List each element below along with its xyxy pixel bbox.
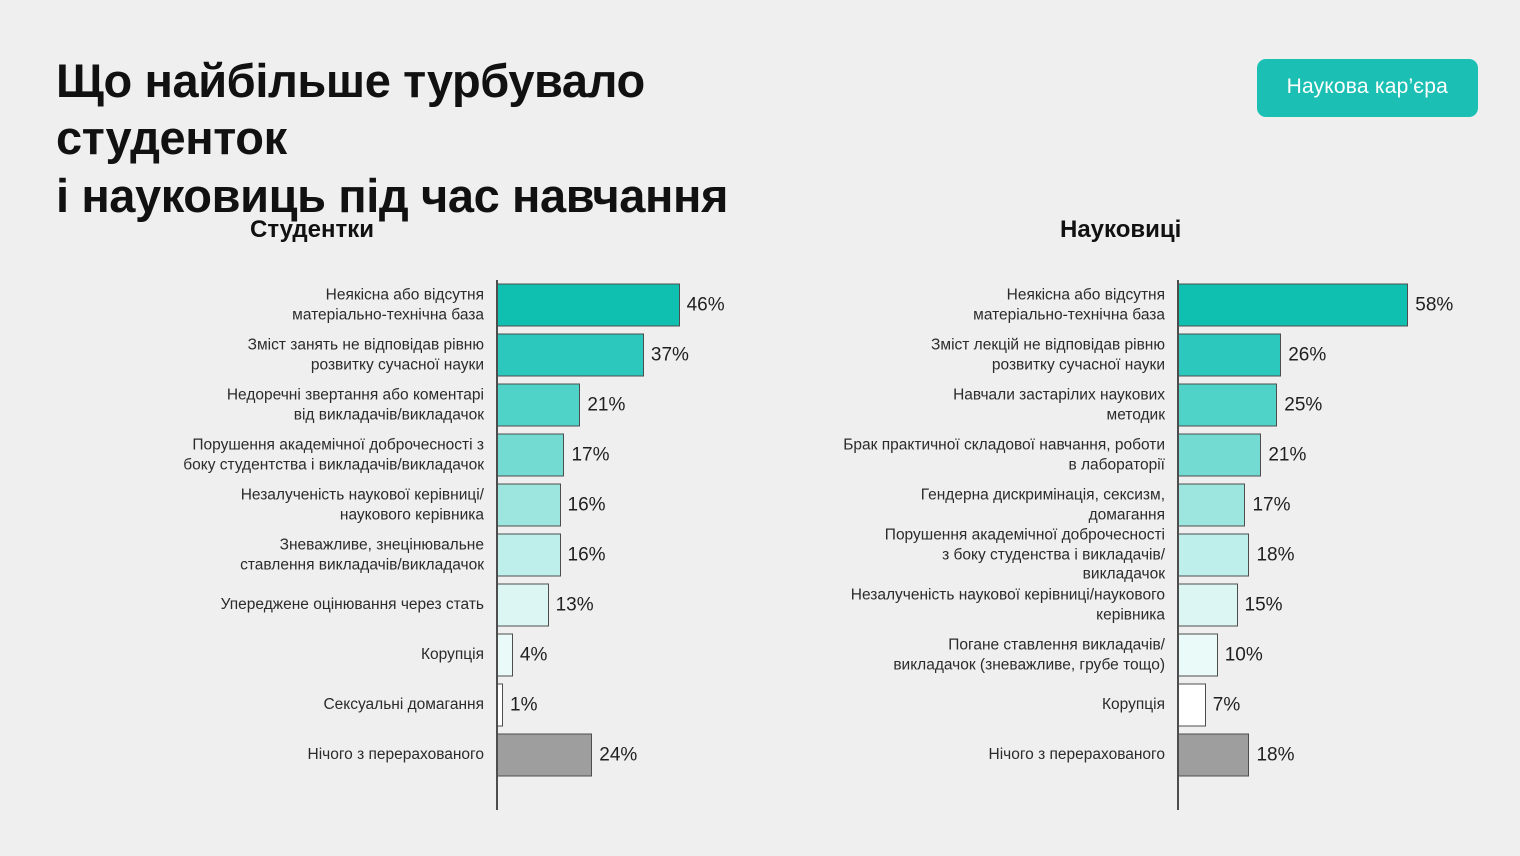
bar: [497, 284, 680, 327]
bar-group: 25%: [1178, 384, 1322, 427]
chart-title-scientists: Науковиці: [735, 216, 1495, 250]
chart-row: Погане ставлення викладачів/ викладачок …: [735, 630, 1495, 680]
bar-group: 26%: [1178, 334, 1326, 377]
bar-category-label: Зміст лекцій не відповідав рівню розвитк…: [735, 335, 1165, 374]
page-title: Що найбільше турбувало студенток і науко…: [56, 52, 956, 224]
bar: [1178, 484, 1245, 527]
bar-group: 17%: [497, 434, 610, 477]
chart-row: Нічого з перерахованого24%: [60, 730, 760, 780]
chart-row: Порушення академічної доброчесності з бо…: [60, 430, 760, 480]
bar-group: 1%: [497, 684, 537, 727]
bar-group: 24%: [497, 734, 637, 777]
chart-row: Нічого з перерахованого18%: [735, 730, 1495, 780]
bar-value-label: 15%: [1245, 594, 1283, 616]
bar-category-label: Зміст занять не відповідав рівню розвитк…: [60, 335, 484, 374]
chart-row: Порушення академічної доброчесності з бо…: [735, 530, 1495, 580]
bar-category-label: Гендерна дискримінація, сексизм, домаган…: [735, 485, 1165, 524]
bar-group: 10%: [1178, 634, 1263, 677]
bar-category-label: Нічого з перерахованого: [60, 745, 484, 765]
bar-group: 18%: [1178, 534, 1294, 577]
bar-group: 18%: [1178, 734, 1294, 777]
chart-row: Незалученість наукової керівниці/науково…: [735, 580, 1495, 630]
bar-category-label: Недоречні звертання або коментарі від ви…: [60, 385, 484, 424]
chart-panel-students: Студентки Неякісна або відсутня матеріал…: [60, 216, 760, 810]
bar-group: 4%: [497, 634, 547, 677]
bar-value-label: 24%: [599, 744, 637, 766]
bar-category-label: Незалученість наукової керівниці/науково…: [735, 585, 1165, 624]
chart-panel-scientists: Науковиці Неякісна або відсутня матеріал…: [735, 216, 1495, 810]
bar-group: 17%: [1178, 484, 1291, 527]
bar-value-label: 18%: [1256, 544, 1294, 566]
bar-value-label: 16%: [568, 494, 606, 516]
bar-value-label: 46%: [687, 294, 725, 316]
bar-value-label: 21%: [587, 394, 625, 416]
bar-category-label: Навчали застарілих наукових методик: [735, 385, 1165, 424]
bar-value-label: 17%: [571, 444, 609, 466]
bar: [1178, 684, 1206, 727]
bar-rows-scientists: Неякісна або відсутня матеріально-техніч…: [735, 280, 1495, 780]
chart-title-students: Студентки: [60, 216, 760, 250]
bar-value-label: 18%: [1256, 744, 1294, 766]
bar: [497, 534, 561, 577]
bar-category-label: Неякісна або відсутня матеріально-техніч…: [60, 285, 484, 324]
bar: [497, 384, 580, 427]
bar-value-label: 21%: [1268, 444, 1306, 466]
bar: [1178, 334, 1281, 377]
bar: [497, 434, 564, 477]
bar: [497, 334, 644, 377]
chart-row: Гендерна дискримінація, сексизм, домаган…: [735, 480, 1495, 530]
bar: [1178, 634, 1218, 677]
bar-category-label: Незалученість наукової керівниці/ науков…: [60, 485, 484, 524]
bar-category-label: Корупція: [60, 645, 484, 665]
bar: [497, 584, 549, 627]
bar-group: 15%: [1178, 584, 1283, 627]
bar-rows-students: Неякісна або відсутня матеріально-техніч…: [60, 280, 760, 780]
bar-value-label: 4%: [520, 644, 547, 666]
bar-value-label: 13%: [556, 594, 594, 616]
bar-value-label: 1%: [510, 694, 537, 716]
chart-row: Незалученість наукової керівниці/ науков…: [60, 480, 760, 530]
bar-value-label: 7%: [1213, 694, 1240, 716]
chart-row: Упереджене оцінювання через стать13%: [60, 580, 760, 630]
bar-value-label: 16%: [568, 544, 606, 566]
chart-row: Недоречні звертання або коментарі від ви…: [60, 380, 760, 430]
chart-row: Корупція7%: [735, 680, 1495, 730]
bar-category-label: Упереджене оцінювання через стать: [60, 595, 484, 615]
bar-category-label: Зневажливе, знецінювальне ставлення викл…: [60, 535, 484, 574]
bar-chart-students: Неякісна або відсутня матеріально-техніч…: [60, 280, 760, 810]
bar: [1178, 284, 1408, 327]
bar: [497, 684, 503, 727]
bar-group: 21%: [497, 384, 625, 427]
chart-row: Навчали застарілих наукових методик25%: [735, 380, 1495, 430]
bar: [1178, 734, 1249, 777]
bar: [1178, 384, 1277, 427]
bar-group: 16%: [497, 484, 606, 527]
chart-row: Зневажливе, знецінювальне ставлення викл…: [60, 530, 760, 580]
chart-row: Неякісна або відсутня матеріально-техніч…: [60, 280, 760, 330]
bar-category-label: Брак практичної складової навчання, робо…: [735, 435, 1165, 474]
status-badge: Наукова кар’єра: [1257, 59, 1478, 117]
bar-category-label: Порушення академічної доброчесності з бо…: [735, 526, 1165, 585]
chart-row: Неякісна або відсутня матеріально-техніч…: [735, 280, 1495, 330]
chart-row: Брак практичної складової навчання, робо…: [735, 430, 1495, 480]
bar: [1178, 534, 1249, 577]
chart-row: Сексуальні домагання1%: [60, 680, 760, 730]
bar-category-label: Корупція: [735, 695, 1165, 715]
bar-group: 13%: [497, 584, 594, 627]
bar: [497, 484, 561, 527]
bar-category-label: Неякісна або відсутня матеріально-техніч…: [735, 285, 1165, 324]
bar-value-label: 25%: [1284, 394, 1322, 416]
bar: [497, 634, 513, 677]
bar-category-label: Порушення академічної доброчесності з бо…: [60, 435, 484, 474]
bar-category-label: Погане ставлення викладачів/ викладачок …: [735, 635, 1165, 674]
chart-row: Зміст лекцій не відповідав рівню розвитк…: [735, 330, 1495, 380]
bar-category-label: Сексуальні домагання: [60, 695, 484, 715]
bar: [1178, 434, 1261, 477]
bar: [497, 734, 592, 777]
bar-value-label: 17%: [1252, 494, 1290, 516]
bar-chart-scientists: Неякісна або відсутня матеріально-техніч…: [735, 280, 1495, 810]
bar-value-label: 26%: [1288, 344, 1326, 366]
bar: [1178, 584, 1238, 627]
chart-row: Корупція4%: [60, 630, 760, 680]
bar-group: 7%: [1178, 684, 1240, 727]
bar-group: 21%: [1178, 434, 1306, 477]
bar-value-label: 37%: [651, 344, 689, 366]
bar-value-label: 58%: [1415, 294, 1453, 316]
bar-category-label: Нічого з перерахованого: [735, 745, 1165, 765]
bar-group: 46%: [497, 284, 725, 327]
chart-row: Зміст занять не відповідав рівню розвитк…: [60, 330, 760, 380]
bar-group: 16%: [497, 534, 606, 577]
bar-group: 58%: [1178, 284, 1453, 327]
bar-group: 37%: [497, 334, 689, 377]
bar-value-label: 10%: [1225, 644, 1263, 666]
